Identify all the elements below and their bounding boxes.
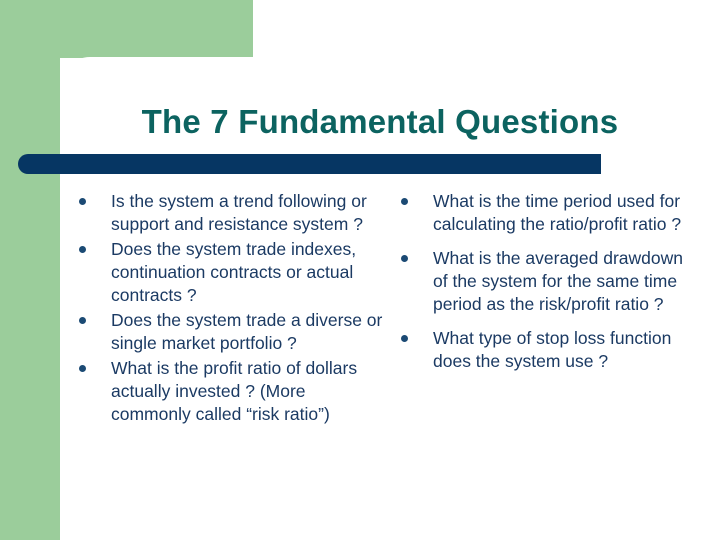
list-item: What is the averaged drawdown of the sys… [400, 247, 690, 316]
list-item: Does the system trade a diverse or singl… [78, 309, 383, 355]
bullet-text: What is the profit ratio of dollars actu… [111, 357, 383, 426]
bullet-dot-icon [401, 335, 408, 342]
bullet-column-right: What is the time period used for calcula… [400, 190, 690, 384]
list-item: What is the profit ratio of dollars actu… [78, 357, 383, 426]
bullet-text: Does the system trade a diverse or singl… [111, 309, 383, 355]
slide-body: Is the system a trend following or suppo… [0, 190, 720, 520]
bullet-text: Is the system a trend following or suppo… [111, 190, 383, 236]
slide-title: The 7 Fundamental Questions [60, 103, 700, 141]
list-item: Is the system a trend following or suppo… [78, 190, 383, 236]
bullet-dot-icon [401, 255, 408, 262]
bullet-text: Does the system trade indexes, continuat… [111, 238, 383, 307]
list-item: Does the system trade indexes, continuat… [78, 238, 383, 307]
presentation-slide: The 7 Fundamental Questions Is the syste… [0, 0, 720, 540]
bullet-text: What is the averaged drawdown of the sys… [433, 247, 690, 316]
bullet-column-left: Is the system a trend following or suppo… [78, 190, 383, 428]
bullet-text: What type of stop loss function does the… [433, 327, 690, 373]
list-item: What is the time period used for calcula… [400, 190, 690, 236]
bullet-dot-icon [79, 198, 86, 205]
bullet-dot-icon [79, 317, 86, 324]
bullet-dot-icon [79, 365, 86, 372]
bullet-text: What is the time period used for calcula… [433, 190, 690, 236]
navy-title-underline-bar [18, 154, 601, 174]
list-item: What type of stop loss function does the… [400, 327, 690, 373]
bullet-dot-icon [401, 198, 408, 205]
bullet-dot-icon [79, 246, 86, 253]
